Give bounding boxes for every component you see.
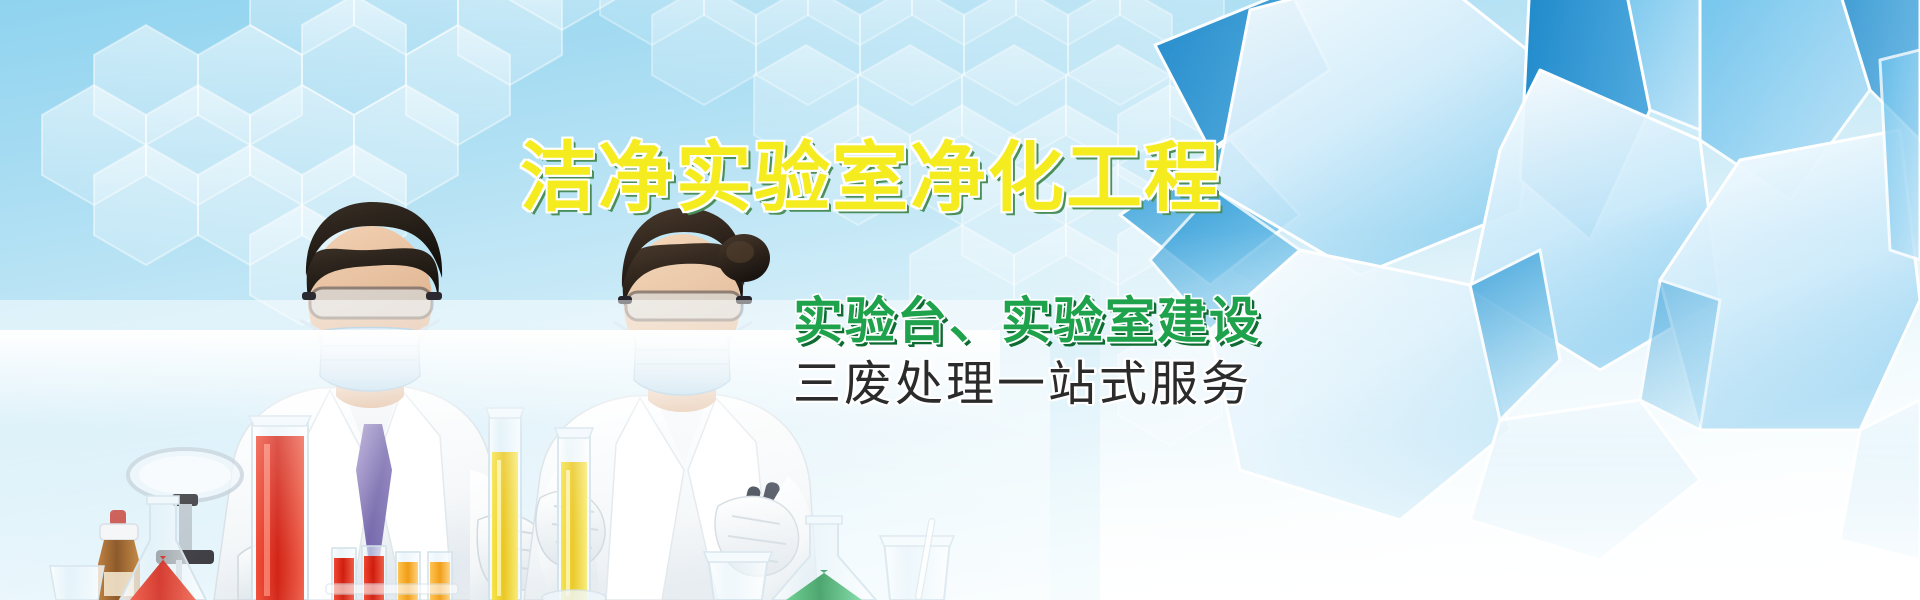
promo-banner: 洁净实验室净化工程 实验台、实验室建设 三废处理一站式服务 bbox=[0, 0, 1920, 600]
laboratory-photo-layer bbox=[0, 0, 1920, 600]
